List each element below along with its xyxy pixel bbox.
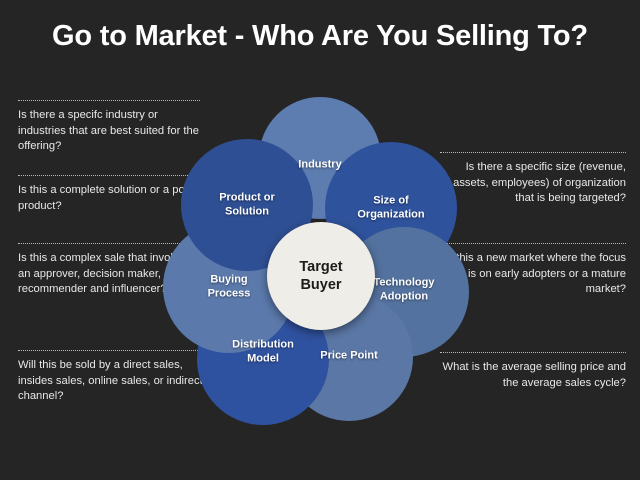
- center-hub-target-buyer[interactable]: Target Buyer: [267, 222, 375, 330]
- page-title: Go to Market - Who Are You Selling To?: [0, 20, 640, 53]
- slide-canvas: Go to Market - Who Are You Selling To? I…: [0, 0, 640, 480]
- center-hub-label: Target Buyer: [267, 258, 375, 294]
- venn-flower-diagram: Industry Size of Organization Technology…: [155, 95, 485, 425]
- center-hub-label-line2: Buyer: [300, 277, 341, 293]
- center-hub-label-line1: Target: [299, 259, 342, 275]
